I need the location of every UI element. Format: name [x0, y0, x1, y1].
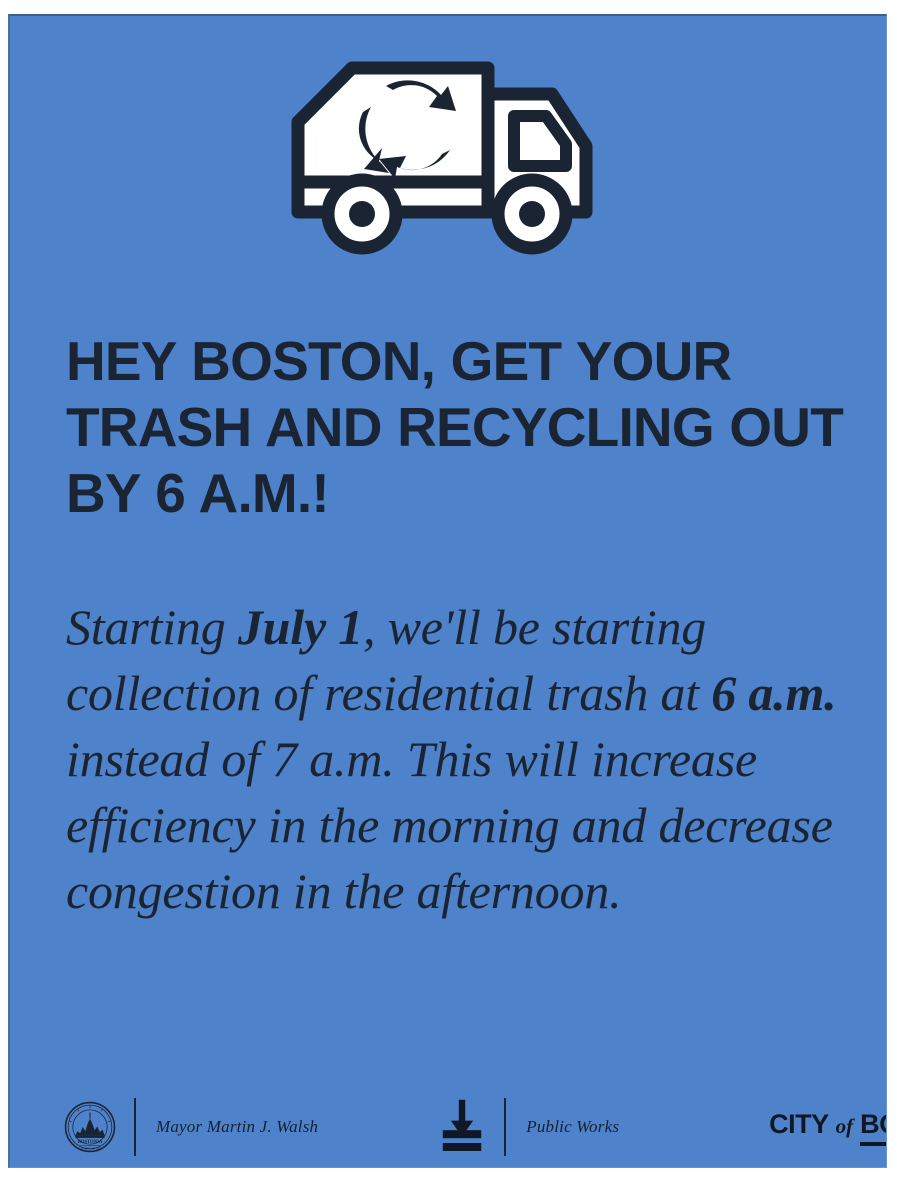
body-segment: Starting	[66, 599, 238, 655]
body-segment-emphasis-date: July 1	[238, 599, 363, 655]
city-of-boston-logo: CITY of BOSTON	[769, 1109, 887, 1146]
brand-of-word: of	[836, 1114, 854, 1139]
body-segment-emphasis-time: 6 a.m.	[711, 665, 836, 721]
poster-page: HEY BOSTON, GET YOUR TRASH AND RECYCLING…	[0, 0, 897, 1185]
footer-divider	[134, 1098, 136, 1156]
recycling-truck-icon	[290, 60, 610, 260]
public-works-label: Public Works	[526, 1117, 619, 1137]
svg-text:CONDITA AD 1630: CONDITA AD 1630	[79, 1147, 101, 1150]
boston-city-seal-icon: BOSTONIA CONDITA AD 1630	[64, 1101, 116, 1153]
page-title: HEY BOSTON, GET YOUR TRASH AND RECYCLING…	[66, 328, 866, 526]
body-paragraph: Starting July 1, we'll be starting colle…	[66, 594, 866, 924]
public-works-lockup: Public Works	[438, 1084, 619, 1168]
public-works-icon	[438, 1098, 486, 1156]
seal-legend: BOSTONIA	[78, 1140, 103, 1145]
footer-logo-bar: BOSTONIA CONDITA AD 1630 Mayor Martin J.…	[64, 1084, 854, 1168]
brand-boston-word: BOSTON	[860, 1109, 887, 1146]
body-segment: instead of 7 a.m. This will increase eff…	[66, 731, 833, 919]
mayor-lockup: BOSTONIA CONDITA AD 1630 Mayor Martin J.…	[64, 1084, 318, 1168]
mayor-name-label: Mayor Martin J. Walsh	[156, 1117, 318, 1137]
brand-city-word: CITY	[769, 1109, 829, 1140]
footer-divider	[504, 1098, 506, 1156]
poster-panel: HEY BOSTON, GET YOUR TRASH AND RECYCLING…	[8, 14, 887, 1168]
hero-illustration	[10, 60, 887, 260]
